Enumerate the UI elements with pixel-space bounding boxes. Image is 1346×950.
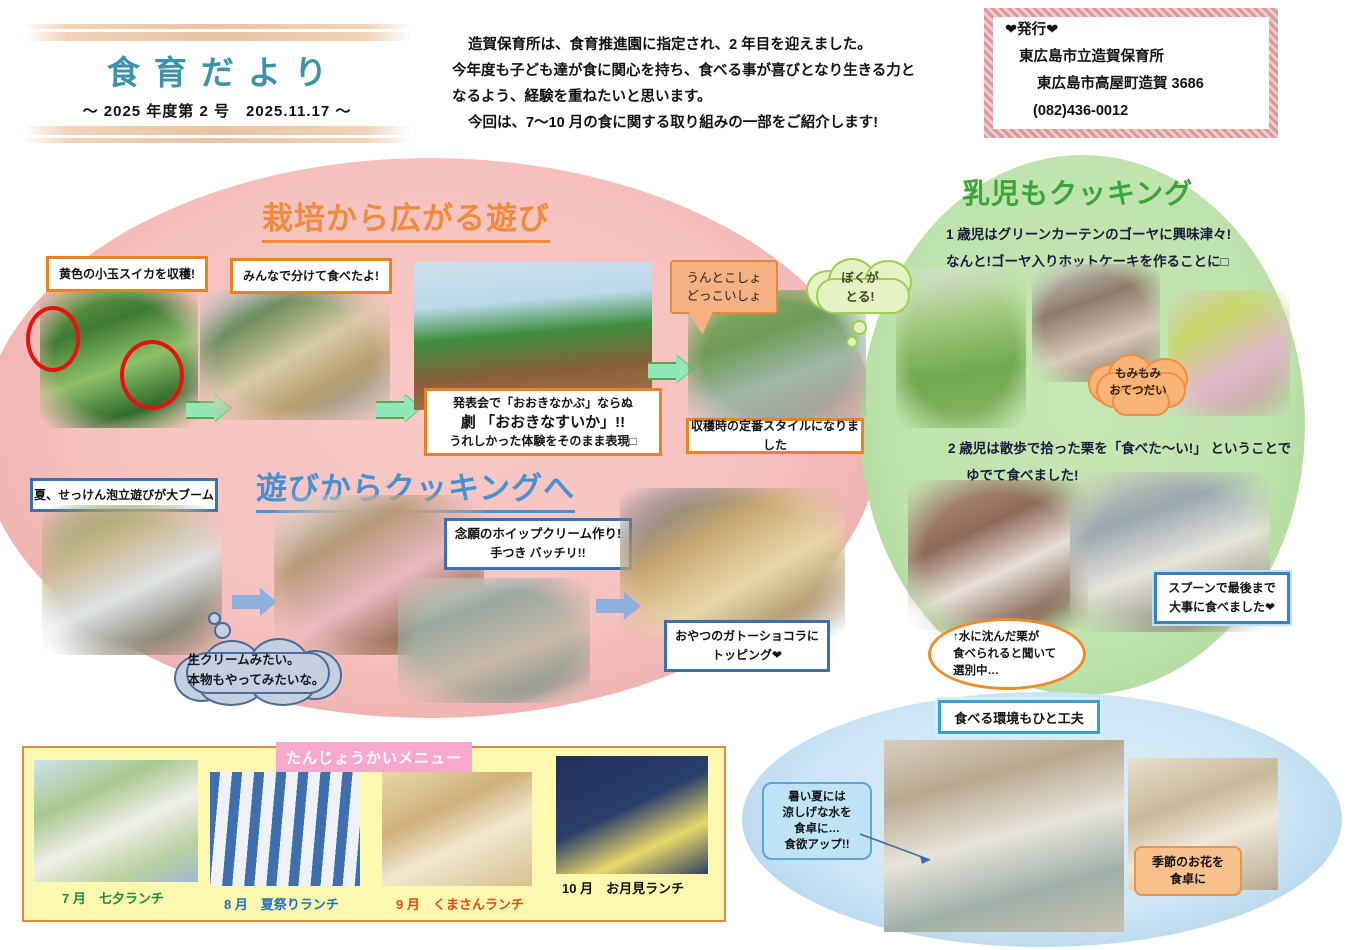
callout-gateau-topping: おやつのガトーショコラに トッピング❤ xyxy=(664,620,830,672)
callout-chestnut-sorting-line-2: 食べられると聞いて xyxy=(953,646,1056,663)
eating-environment-label: 食べる環境もひと工夫 xyxy=(938,700,1100,734)
menu-caption-july: 7 月 七夕ランチ xyxy=(62,888,164,907)
thought-bubble-ill-pick-it-line-2: とる! xyxy=(841,288,879,307)
callout-harvest-style-text: 収穫時の定番スタイルになりました xyxy=(689,417,861,455)
publisher-address: 東広島市高屋町造賀 3686 xyxy=(993,71,1269,98)
thought-dot-boku-2 xyxy=(846,336,858,348)
callout-seasonal-flowers-line-1: 季節のお花を xyxy=(1152,854,1224,871)
thought-bubble-kneading-help-line-1: もみもみ xyxy=(1109,366,1166,383)
arrow-blue-1 xyxy=(232,588,277,616)
photo-kids-sharing xyxy=(200,290,390,420)
highlight-circle-left xyxy=(26,306,80,372)
intro-line-2: 今年度も子ども達が食に関心を持ち、食べる事が喜びとなり生きる力と xyxy=(452,58,957,84)
speech-bubble-heave-ho-tail xyxy=(688,306,720,336)
callout-seasonal-flowers-line-2: 食卓に xyxy=(1152,871,1224,888)
photo-menu-july xyxy=(34,760,198,882)
eating-environment-label-text: 食べる環境もひと工夫 xyxy=(954,708,1084,727)
speech-bubble-heave-ho-line-1: うんとこしょ xyxy=(686,269,761,287)
publisher-heading: ❤発行❤ xyxy=(993,17,1269,44)
callout-whipped-cream: 念願のホイップクリーム作り! 手つき バッチリ!! xyxy=(444,518,632,570)
masthead-rule-bottom-2 xyxy=(22,138,412,143)
thought-bubble-ill-pick-it-line-1: ぼくが xyxy=(841,269,879,288)
callout-watermelon-harvest-text: 黄色の小玉スイカを収穫! xyxy=(49,265,205,284)
callout-stage-play: 発表会で「おおきなかぶ」ならぬ 劇 「おおきなすいか」!! うれしかった体験をそ… xyxy=(424,388,662,456)
pointer-line-cool-water xyxy=(860,830,940,866)
callout-chestnut-sorting: ↑水に沈んだ栗が 食べられると聞いて 選別中… xyxy=(928,618,1086,690)
menu-caption-september: 9 月 くまさんランチ xyxy=(396,894,524,913)
birthday-menu-badge: たんじょうかいメニュー xyxy=(276,742,472,772)
infant-text-line-3: 2 歳児は散歩で拾った栗を「食べた～い!」 ということで xyxy=(948,437,1291,457)
thought-dot-medium xyxy=(214,622,231,639)
callout-seasonal-flowers: 季節のお花を 食卓に xyxy=(1134,846,1242,896)
callout-shared-eating-text: みんなで分けて食べたよ! xyxy=(233,267,389,286)
callout-cool-water-line-2: 涼しげな水を xyxy=(783,805,852,821)
menu-caption-august: 8 月 夏祭りランチ xyxy=(224,894,339,913)
callout-stage-play-line-1: 発表会で「おおきなかぶ」ならぬ xyxy=(427,394,659,413)
callout-spoon-eating: スプーンで最後まで 大事に食べました❤ xyxy=(1154,572,1290,624)
menu-caption-october: 10 月 お月見ランチ xyxy=(562,878,684,897)
arrow-green-3 xyxy=(648,355,693,383)
intro-line-1: 造賀保育所は、食育推進園に指定され、2 年目を迎えました。 xyxy=(452,32,957,58)
arrow-blue-2 xyxy=(596,592,641,620)
thought-bubble-cream-line-1: 生クリームみたい。 xyxy=(188,650,325,670)
birthday-menu-badge-text: たんじょうかいメニュー xyxy=(286,747,462,768)
callout-spoon-eating-line-1: スプーンで最後まで xyxy=(1157,579,1287,598)
thought-bubble-cream: 生クリームみたい。 本物もやってみたいな。 xyxy=(172,638,340,702)
callout-chestnut-sorting-line-3: 選別中… xyxy=(953,663,1056,680)
callout-cool-water-line-3: 食卓に… xyxy=(783,821,852,837)
callout-watermelon-harvest: 黄色の小玉スイカを収穫! xyxy=(46,256,208,292)
publisher-phone: (082)436-0012 xyxy=(993,98,1269,125)
cultivation-heading: 栽培から広がる遊び xyxy=(262,193,550,243)
masthead: 食育だより ～ 2025 年度第 2 号 2025.11.17 ～ xyxy=(22,8,412,143)
callout-chestnut-sorting-line-1: ↑水に沈んだ栗が xyxy=(953,629,1056,646)
thought-bubble-kneading-help: もみもみ おてつだい xyxy=(1088,354,1188,412)
publisher-name: 東広島市立造賀保育所 xyxy=(993,44,1269,71)
callout-shared-eating: みんなで分けて食べたよ! xyxy=(230,258,392,294)
intro-paragraph: 造賀保育所は、食育推進園に指定され、2 年目を迎えました。 今年度も子ども達が食… xyxy=(452,32,957,136)
photo-children-cooking xyxy=(398,578,590,703)
photo-menu-september xyxy=(382,772,532,886)
callout-cool-water-line-1: 暑い夏には xyxy=(783,789,852,805)
highlight-circle-right xyxy=(120,340,184,410)
photo-menu-august xyxy=(210,772,360,886)
infant-cooking-heading: 乳児もクッキング xyxy=(962,172,1193,212)
thought-bubble-cream-line-2: 本物もやってみたいな。 xyxy=(188,670,325,690)
photo-sorting-chestnuts xyxy=(908,480,1088,630)
photo-soap-play xyxy=(42,505,222,655)
callout-gateau-topping-line-1: おやつのガトーショコラに xyxy=(667,627,827,646)
thought-bubble-ill-pick-it: ぼくが とる! xyxy=(806,258,914,318)
callout-whipped-cream-line-2: 手つき バッチリ!! xyxy=(447,544,629,563)
callout-spoon-eating-line-2: 大事に食べました❤ xyxy=(1157,598,1287,617)
photo-topping-gateau xyxy=(620,488,845,638)
publisher-info-box: ❤発行❤ 東広島市立造賀保育所 東広島市高屋町造賀 3686 (082)436-… xyxy=(984,8,1278,138)
thought-dot-boku-1 xyxy=(852,320,867,335)
intro-line-4: 今回は、7～10 月の食に関する取り組みの一部をご紹介します! xyxy=(452,110,957,136)
callout-stage-play-line-3: うれしかった体験をそのまま表現□ xyxy=(427,432,659,451)
thought-bubble-kneading-help-line-2: おてつだい xyxy=(1109,383,1166,400)
issue-subtitle: ～ 2025 年度第 2 号 2025.11.17 ～ xyxy=(22,100,412,121)
callout-stage-play-line-2: 劇 「おおきなすいか」!! xyxy=(427,413,659,432)
infant-text-line-1: 1 歳児はグリーンカーテンのゴーヤに興味津々! xyxy=(946,223,1231,243)
callout-cool-water: 暑い夏には 涼しげな水を 食卓に… 食欲アップ!! xyxy=(762,782,872,860)
callout-soap-boom-text: 夏、せっけん泡立遊びが大ブーム xyxy=(33,486,215,505)
speech-bubble-heave-ho: うんとこしょ どっこいしょ xyxy=(670,260,778,314)
speech-bubble-heave-ho-line-2: どっこいしょ xyxy=(686,287,761,305)
photo-green-curtain xyxy=(896,268,1026,428)
page-title: 食育だより xyxy=(22,46,412,94)
masthead-rule-top-1 xyxy=(22,24,412,29)
intro-line-3: なるよう、経験を重ねたいと思います。 xyxy=(452,84,957,110)
masthead-rule-top-2 xyxy=(22,32,412,41)
callout-harvest-style: 収穫時の定番スタイルになりました xyxy=(686,418,864,454)
callout-gateau-topping-line-2: トッピング❤ xyxy=(667,646,827,665)
photo-menu-october xyxy=(556,756,708,874)
callout-whipped-cream-line-1: 念願のホイップクリーム作り! xyxy=(447,525,629,544)
callout-cool-water-line-4: 食欲アップ!! xyxy=(783,837,852,853)
masthead-rule-bottom-1 xyxy=(22,126,412,135)
